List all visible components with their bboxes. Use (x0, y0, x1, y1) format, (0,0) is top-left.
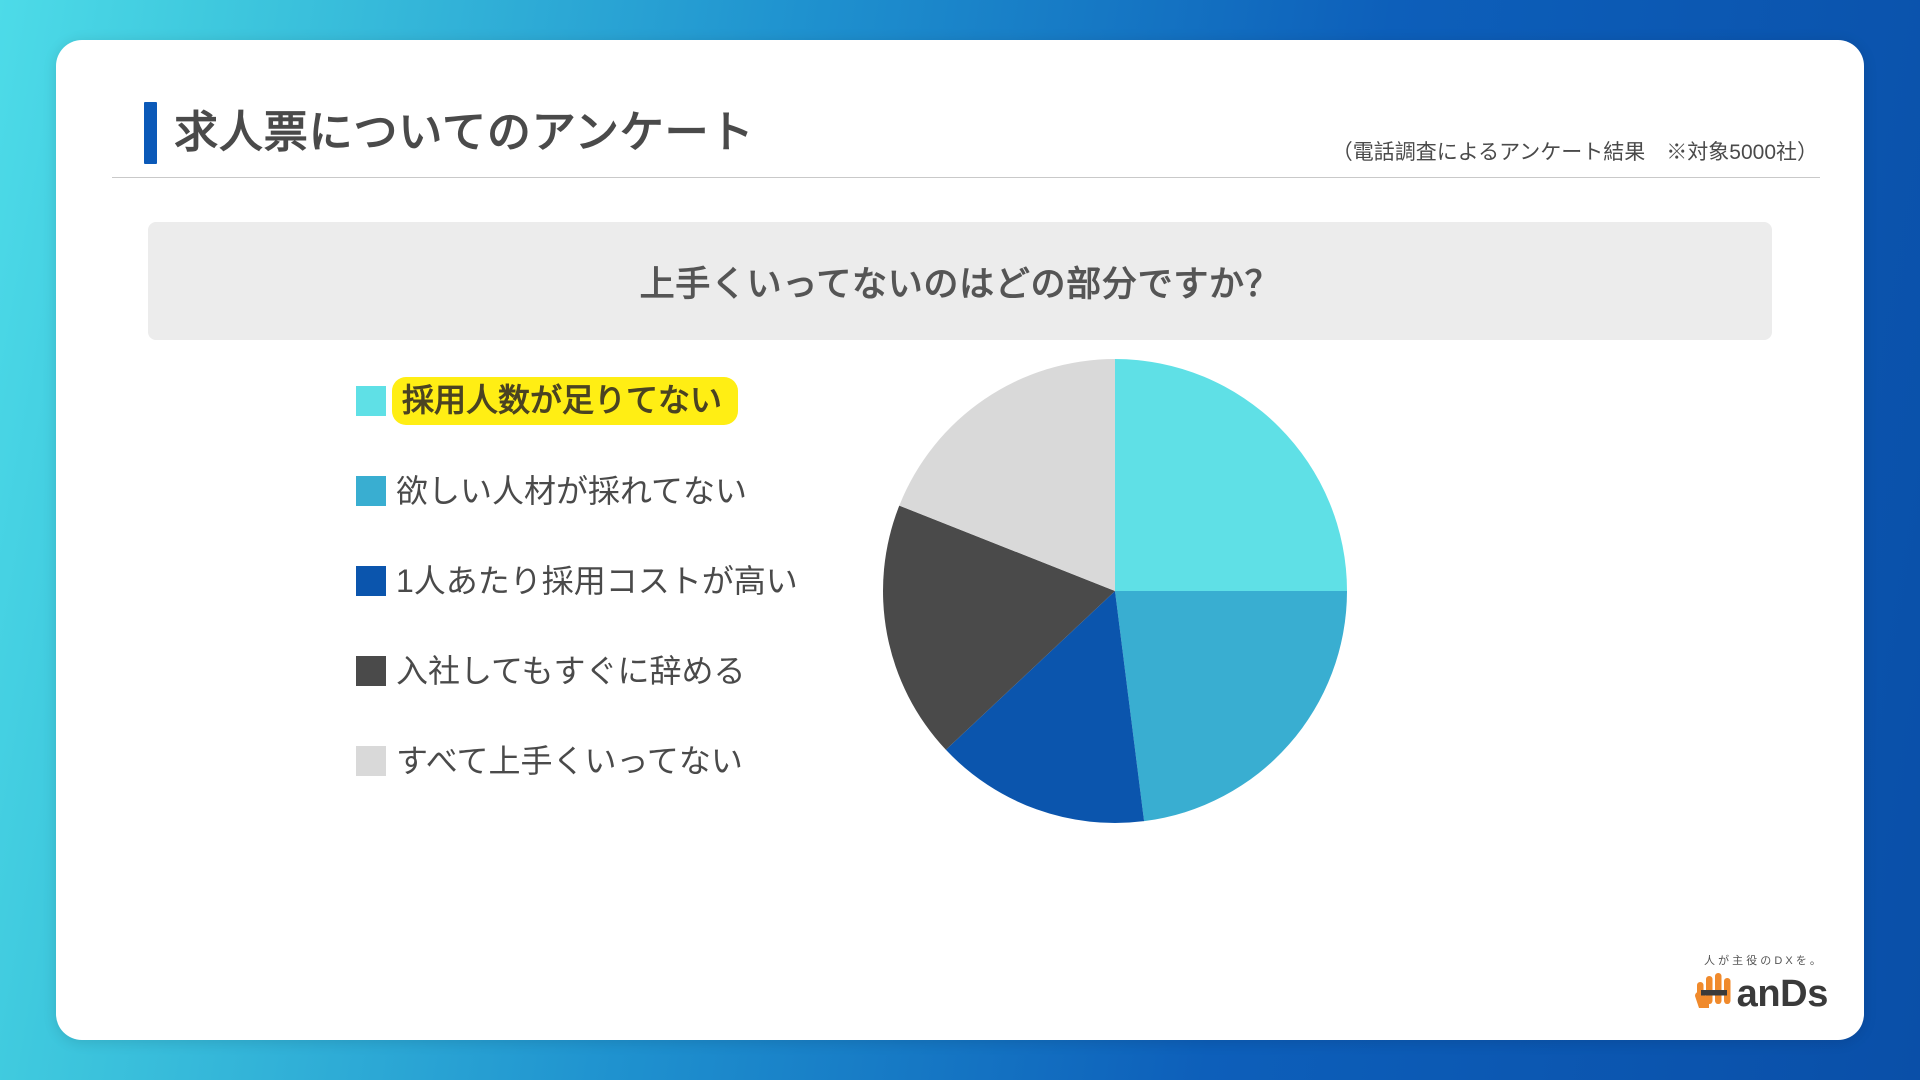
legend-label-1: 欲しい人材が採れてない (396, 468, 747, 514)
chart-section: 採用人数が足りてない 欲しい人材が採れてない 1人あたり採用コストが高い 入社し… (56, 340, 1864, 1040)
legend-swatch-icon-0 (356, 386, 386, 416)
header-divider (112, 177, 1820, 178)
page-title: 求人票についてのアンケート (174, 102, 754, 164)
slide-header: 求人票についてのアンケート （電話調査によるアンケート結果 ※対象5000社） (56, 40, 1864, 178)
pie-slice-1[interactable] (1115, 591, 1347, 821)
hand-icon (1693, 970, 1739, 1014)
pie-slice-0[interactable] (1115, 359, 1347, 591)
chart-legend: 採用人数が足りてない 欲しい人材が採れてない 1人あたり採用コストが高い 入社し… (356, 378, 896, 828)
legend-item-4[interactable]: すべて上手くいってない (356, 738, 896, 784)
title-accent-bar (144, 102, 157, 164)
legend-swatch-icon-4 (356, 746, 386, 776)
question-banner: 上手くいってないのはどの部分ですか？ (148, 222, 1772, 340)
logo-tagline: 人が主役のDXを。 (1628, 954, 1824, 968)
legend-swatch-icon-2 (356, 566, 386, 596)
legend-label-4: すべて上手くいってない (396, 738, 743, 784)
brand-logo: 人が主役のDXを。 anDs (1628, 954, 1828, 1022)
slide-card: 求人票についてのアンケート （電話調査によるアンケート結果 ※対象5000社） … (56, 40, 1864, 1040)
survey-source-note: （電話調査によるアンケート結果 ※対象5000社） (1332, 138, 1818, 168)
pie-chart-svg (882, 358, 1348, 824)
logo-wordmark: anDs (1737, 974, 1828, 1014)
logo-mark: anDs (1628, 968, 1828, 1014)
legend-item-3[interactable]: 入社してもすぐに辞める (356, 648, 896, 694)
legend-label-0: 採用人数が足りてない (392, 377, 738, 425)
legend-swatch-icon-1 (356, 476, 386, 506)
legend-label-2: 1人あたり採用コストが高い (396, 558, 798, 604)
legend-item-2[interactable]: 1人あたり採用コストが高い (356, 558, 896, 604)
pie-chart (882, 358, 1348, 824)
legend-swatch-icon-3 (356, 656, 386, 686)
question-text: 上手くいってないのはどの部分ですか？ (640, 256, 1281, 307)
legend-item-1[interactable]: 欲しい人材が採れてない (356, 468, 896, 514)
legend-item-0[interactable]: 採用人数が足りてない (356, 378, 896, 424)
legend-label-3: 入社してもすぐに辞める (396, 648, 745, 694)
